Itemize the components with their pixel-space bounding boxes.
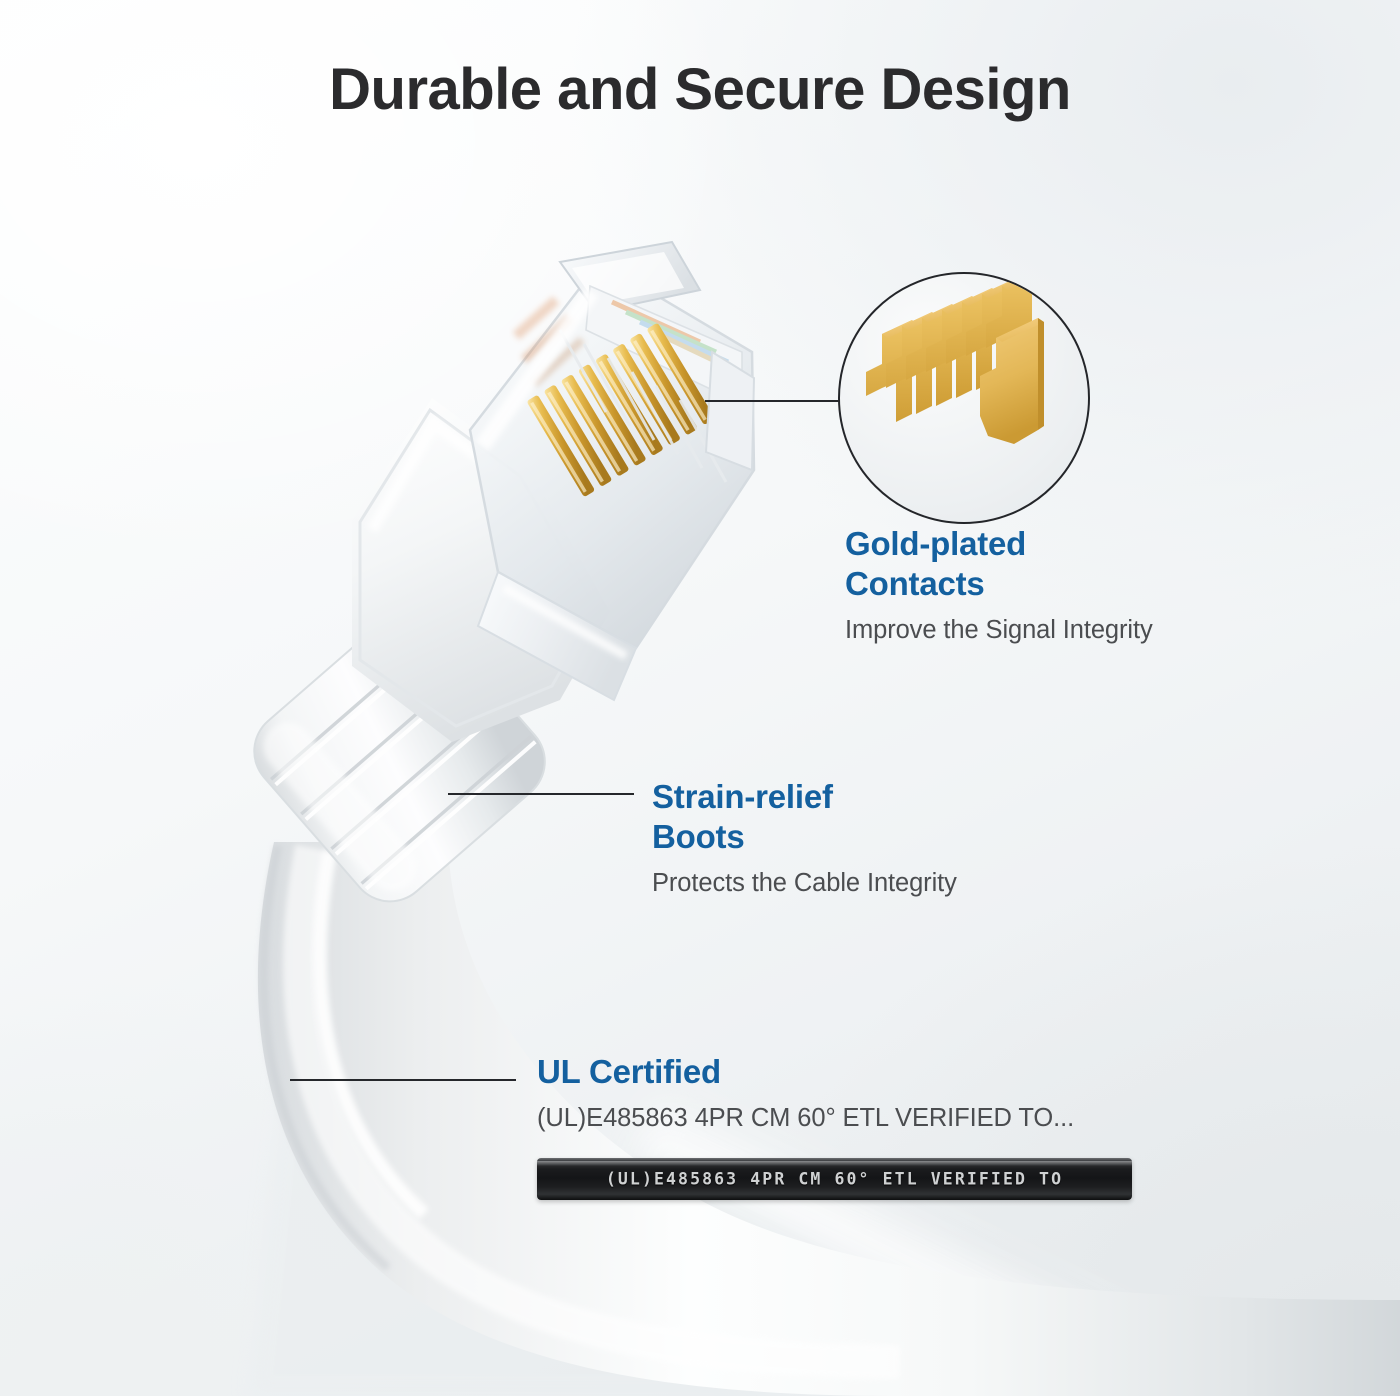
callout-heading-line-2: Contacts	[845, 565, 985, 602]
callout-heading-line-1: Gold-plated	[845, 525, 1026, 562]
gold-contacts-closeup-icon	[840, 274, 1090, 524]
callout-heading-ul-certified: UL Certified	[537, 1052, 1187, 1092]
rj45-clear-plug	[470, 242, 754, 700]
cable-printed-text: (UL)E485863 4PR CM 60° ETL VERIFIED TO	[537, 1170, 1132, 1189]
callout-heading-strain-relief-boots: Strain-relief Boots	[652, 777, 1072, 858]
callout-subtitle-gold-plated-contacts: Improve the Signal Integrity	[845, 614, 1265, 647]
cable-print-strip: (UL)E485863 4PR CM 60° ETL VERIFIED TO	[537, 1158, 1132, 1200]
gold-contacts-magnifier	[838, 272, 1090, 524]
leader-line-gold-contacts	[705, 400, 839, 402]
leader-line-strain-relief	[448, 793, 634, 795]
callout-gold-plated-contacts: Gold-plated Contacts Improve the Signal …	[845, 524, 1265, 647]
leader-line-ul-certified	[290, 1079, 516, 1081]
callout-heading-line-2: Boots	[652, 818, 745, 855]
callout-heading-gold-plated-contacts: Gold-plated Contacts	[845, 524, 1265, 605]
callout-heading-line-1: Strain-relief	[652, 778, 833, 815]
callout-ul-certified: UL Certified (UL)E485863 4PR CM 60° ETL …	[537, 1052, 1187, 1135]
callout-strain-relief-boots: Strain-relief Boots Protects the Cable I…	[652, 777, 1072, 900]
cable-strip-sheen	[537, 1161, 1132, 1166]
callout-subtitle-strain-relief-boots: Protects the Cable Integrity	[652, 867, 1072, 900]
callout-subtitle-ul-certified: (UL)E485863 4PR CM 60° ETL VERIFIED TO..…	[537, 1102, 1187, 1135]
